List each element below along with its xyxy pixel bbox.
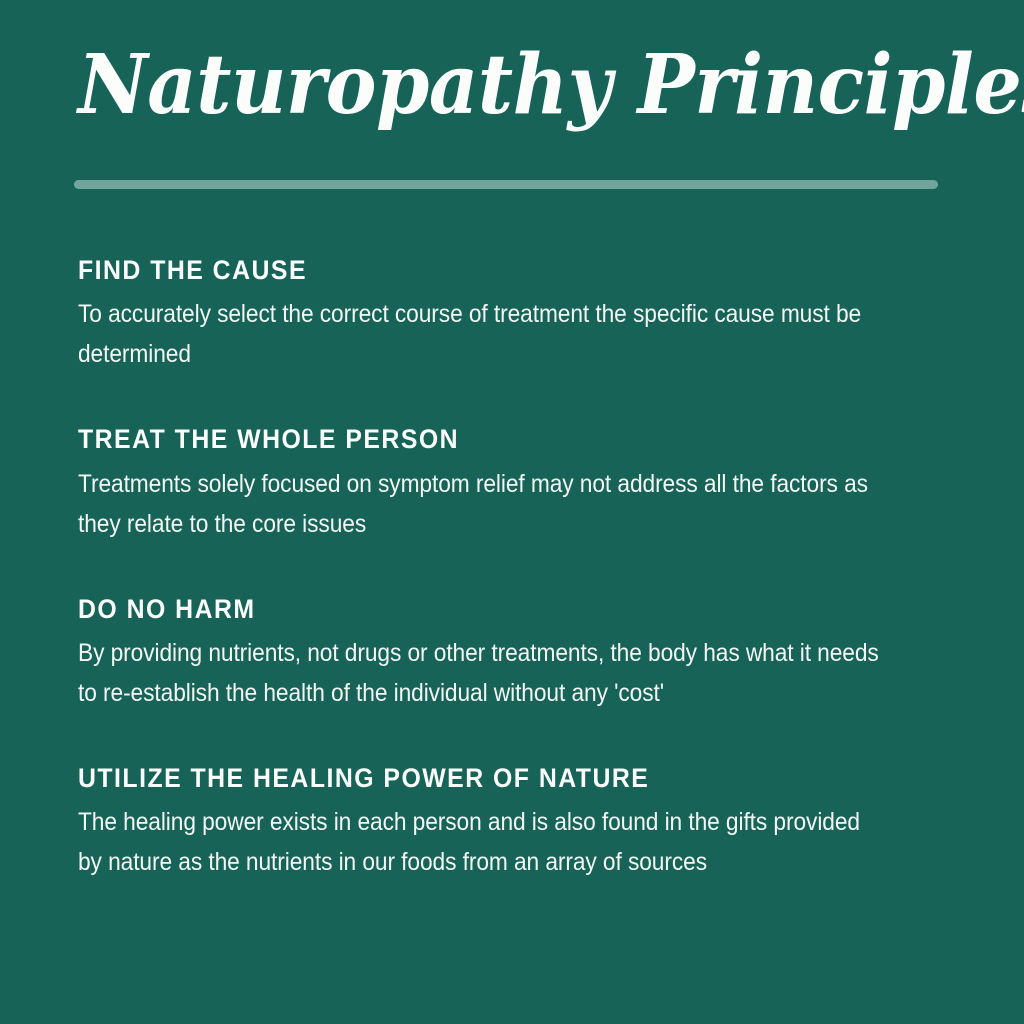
principle-body: Treatments solely focused on symptom rel… bbox=[78, 464, 879, 544]
principles-list: FIND THE CAUSE To accurately select the … bbox=[78, 256, 958, 882]
principle-section-do-no-harm: DO NO HARM By providing nutrients, not d… bbox=[78, 595, 958, 713]
principle-section-treat-the-whole-person: TREAT THE WHOLE PERSON Treatments solely… bbox=[78, 425, 958, 543]
principle-heading: UTILIZE THE HEALING POWER OF NATURE bbox=[78, 764, 888, 792]
principle-body: By providing nutrients, not drugs or oth… bbox=[78, 633, 879, 713]
principle-body: The healing power exists in each person … bbox=[78, 802, 879, 882]
principle-heading: TREAT THE WHOLE PERSON bbox=[78, 425, 888, 453]
title-block: Naturopathy Principles bbox=[78, 44, 958, 126]
principle-heading: FIND THE CAUSE bbox=[78, 256, 888, 284]
page-title: Naturopathy Principles bbox=[78, 44, 896, 126]
principle-section-utilize-the-healing-power-of-nature: UTILIZE THE HEALING POWER OF NATURE The … bbox=[78, 764, 958, 882]
principle-heading: DO NO HARM bbox=[78, 595, 888, 623]
poster-root: Naturopathy Principles FIND THE CAUSE To… bbox=[0, 0, 1024, 1024]
principle-section-find-the-cause: FIND THE CAUSE To accurately select the … bbox=[78, 256, 958, 374]
title-divider-rule bbox=[74, 180, 938, 189]
principle-body: To accurately select the correct course … bbox=[78, 294, 879, 374]
